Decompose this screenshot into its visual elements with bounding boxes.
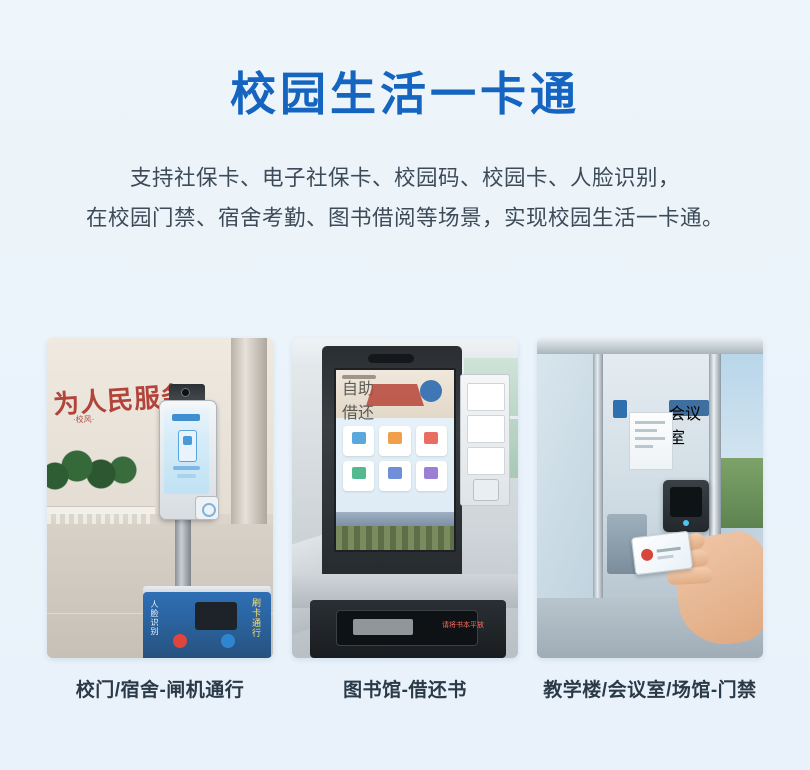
menu-tile [379, 426, 410, 456]
menu-tile [343, 426, 374, 456]
card-text-line-2 [657, 555, 673, 560]
poster-line [635, 437, 665, 440]
menu-tile [379, 461, 410, 491]
screen-menu-grid [343, 426, 447, 491]
scenario-card-gate[interactable]: 为人民服务 ·校风· [47, 338, 273, 702]
turnstile-right-text: 刷卡通行 [250, 598, 263, 638]
subtitle-line-1: 支持社保卡、电子社保卡、校园码、校园卡、人脸识别， [55, 158, 755, 198]
menu-tile [343, 461, 374, 491]
status-indicator-red [173, 634, 187, 648]
notice-poster [629, 412, 673, 470]
page-root: 校园生活一卡通 支持社保卡、电子社保卡、校园码、校园卡、人脸识别， 在校园门禁、… [0, 58, 810, 770]
outdoor-greenery [721, 458, 763, 528]
card-logo-icon [640, 548, 653, 561]
scenario-card-caption: 校门/宿舍-闸机通行 [47, 675, 273, 702]
screen-text-line-2 [177, 474, 196, 478]
reader-status-led [683, 520, 689, 526]
side-instruction-panel [460, 374, 510, 506]
poster-line [635, 445, 653, 448]
kiosk-screen: 自助借还书机 [334, 368, 456, 552]
door-frame-top [537, 338, 763, 354]
status-indicator-blue [221, 634, 235, 648]
plate-notice-text: 请将书本平放 [442, 620, 484, 630]
door-access-card-tap-photo: 会议室 [537, 338, 763, 658]
face-terminal-screen [164, 408, 209, 494]
scenario-card-list: 为人民服务 ·校风· [0, 338, 810, 702]
scenario-card-library[interactable]: 自助借还书机 [292, 338, 518, 702]
library-self-service-kiosk-photo: 自助借还书机 [292, 338, 518, 658]
campus-gate-face-terminal-photo: 为人民服务 ·校风· [47, 338, 273, 658]
screen-banner: 自助借还书机 [336, 370, 454, 418]
scenario-card-door-access[interactable]: 会议室 [537, 338, 763, 702]
camera-icon [368, 354, 414, 363]
card-text-line-1 [657, 547, 681, 553]
turnstile-left-text: 人脸识别 [149, 600, 160, 636]
wall-slogan-subtext: ·校风· [73, 414, 94, 425]
room-sign: 会议室 [669, 400, 709, 416]
potted-plants [47, 446, 138, 502]
scenario-card-caption: 教学楼/会议室/场馆-门禁 [537, 675, 763, 702]
menu-tile [416, 461, 447, 491]
screen-footer-photo [336, 512, 454, 550]
page-subtitle: 支持社保卡、电子社保卡、校园码、校园卡、人脸识别， 在校园门禁、宿舍考勤、图书借… [55, 158, 755, 238]
library-seal-icon [420, 380, 442, 402]
screen-header-bar [172, 414, 200, 421]
page-title: 校园生活一卡通 [0, 58, 810, 124]
book-scanning-plate: 请将书本平放 [310, 600, 506, 658]
subtitle-line-2: 在校园门禁、宿舍考勤、图书借阅等场景，实现校园生活一卡通。 [55, 198, 755, 238]
campus-card [631, 531, 693, 576]
panel-step-2 [467, 415, 505, 443]
menu-tile [416, 426, 447, 456]
scenario-card-caption: 图书馆-借还书 [292, 675, 518, 702]
screen-banner-title: 自助借还书机 [342, 375, 376, 379]
camera-icon [169, 384, 205, 400]
wall-sign-icon [613, 400, 627, 418]
poster-line [635, 421, 665, 424]
card-reader-icon [195, 496, 219, 520]
poster-line [635, 429, 657, 432]
screen-text-line-1 [173, 466, 200, 470]
turnstile-body: 人脸识别 刷卡通行 [143, 592, 271, 658]
panel-step-3 [467, 447, 505, 475]
phone-icon [178, 430, 197, 462]
building-illustration [366, 384, 424, 406]
nfc-reader-icon [473, 479, 499, 501]
door-access-reader [663, 480, 709, 532]
panel-step-1 [467, 383, 505, 411]
turnstile-display-panel [195, 602, 237, 630]
